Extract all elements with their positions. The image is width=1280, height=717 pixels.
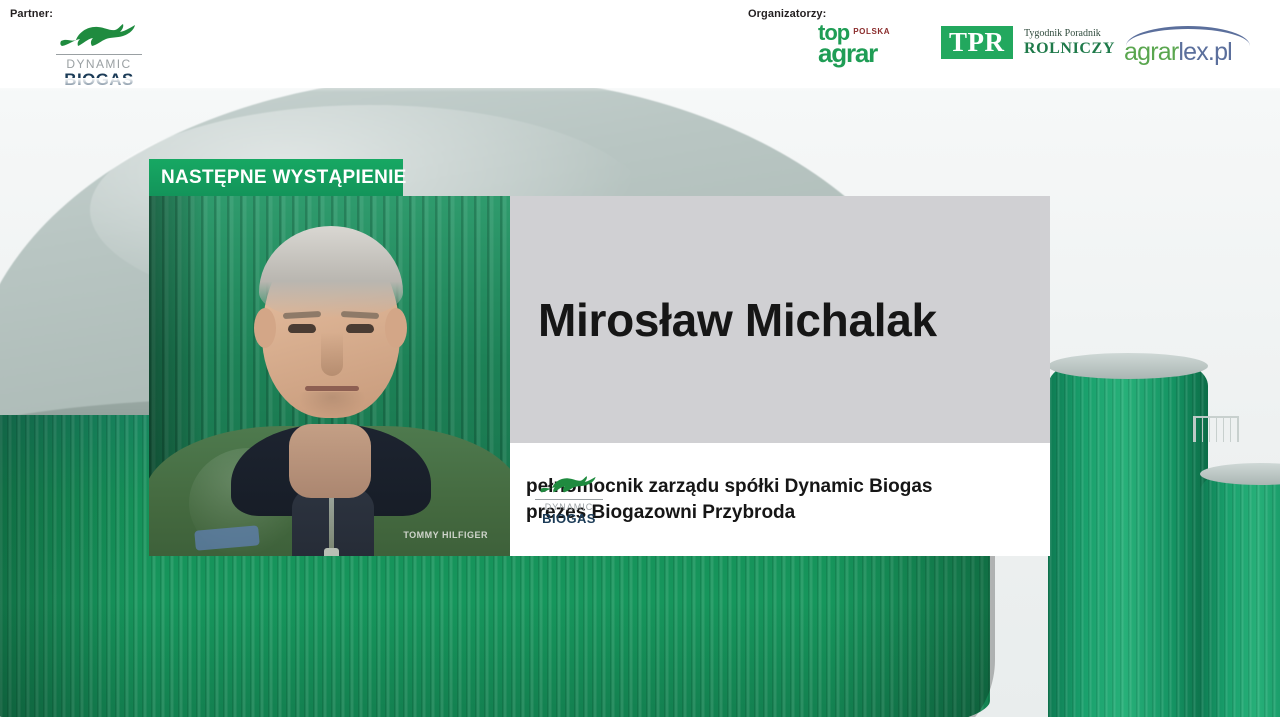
tpr-line2: ROLNICZY (1024, 40, 1115, 58)
jacket-brand-label: TOMMY HILFIGER (403, 530, 488, 540)
ear-left (254, 308, 276, 348)
wall-shadow-left (0, 415, 140, 717)
speaker-photo: TOMMY HILFIGER (149, 196, 510, 556)
tpr-line1: Tygodnik Poradnik (1024, 28, 1115, 40)
top-logo-bar: Partner: Organizatorzy: DYNAMIC BIOGAS t… (0, 0, 1280, 88)
presentation-slide: Partner: Organizatorzy: DYNAMIC BIOGAS t… (0, 0, 1280, 717)
top-agrar-superscript: POLSKA (853, 28, 890, 36)
speaker-name: Mirosław Michalak (510, 293, 937, 347)
partner-logo-line1: DYNAMIC (44, 57, 154, 71)
bull-icon (526, 473, 612, 497)
storage-tank-secondary (1200, 470, 1280, 717)
speaker-role-panel: pełnomocnik zarządu spółki Dynamic Bioga… (510, 443, 1050, 556)
speaker-name-panel: Mirosław Michalak (510, 196, 1050, 443)
next-speaker-banner: NASTĘPNE WYSTĄPIENIE (149, 159, 403, 196)
next-speaker-banner-label: NASTĘPNE WYSTĄPIENIE (149, 167, 407, 189)
mouth (305, 386, 359, 391)
agrarlex-part2: lex.pl (1178, 38, 1232, 66)
partner-label: Partner: (10, 8, 53, 20)
speaker-card: TOMMY HILFIGER Mirosław Michalak pełnomo… (149, 196, 1050, 556)
header-fade (0, 78, 1280, 92)
storage-tank-primary (1048, 360, 1208, 717)
agrarlex-wordmark: agrarlex.pl (1124, 38, 1232, 66)
card-logo-dynamic-biogas[interactable]: DYNAMIC BIOGAS (526, 473, 612, 526)
tank-railing (1193, 416, 1239, 442)
logo-divider (56, 54, 142, 55)
ear-right (385, 308, 407, 348)
neck (289, 424, 371, 498)
agrarlex-part1: agrar (1124, 38, 1178, 66)
jacket-zipper-pull (324, 548, 339, 556)
eye-right (346, 324, 374, 333)
bull-icon (44, 20, 154, 52)
card-logo-line2: BIOGAS (526, 512, 612, 526)
tpr-badge: TPR (941, 26, 1013, 59)
organizers-label: Organizatorzy: (748, 8, 826, 20)
speaker-info: Mirosław Michalak pełnomocnik zarządu sp… (510, 196, 1050, 556)
nose (321, 332, 343, 376)
logo-divider (535, 499, 602, 500)
organizer-logo-tpr[interactable]: TPR Tygodnik Poradnik ROLNICZY (941, 26, 1115, 66)
jacket-zipper (329, 496, 334, 556)
chin-shadow (299, 392, 365, 418)
eye-left (288, 324, 316, 333)
organizer-logo-top-agrar[interactable]: topPOLSKA agrar (818, 22, 928, 68)
tpr-wordmark: Tygodnik Poradnik ROLNICZY (1024, 28, 1115, 58)
storage-tank-primary-cap (1048, 353, 1208, 379)
organizer-logo-agrarlex[interactable]: agrarlex.pl (1120, 26, 1255, 68)
top-agrar-word2: agrar (818, 40, 928, 66)
